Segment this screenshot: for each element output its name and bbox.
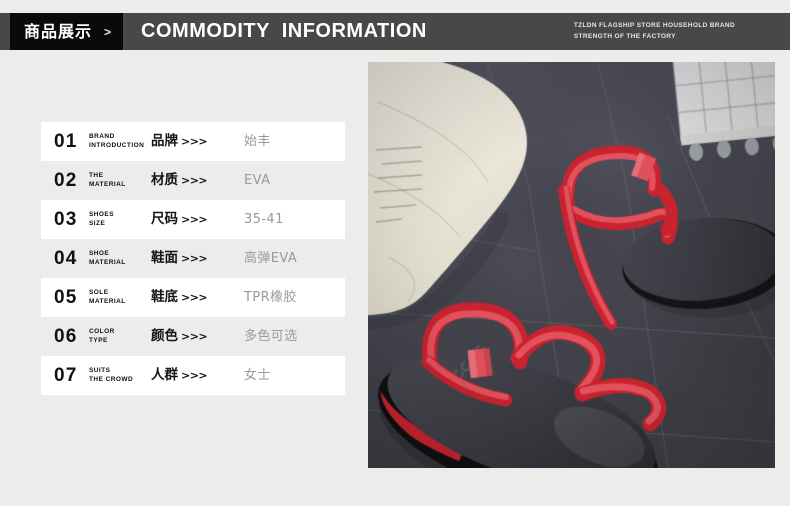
spec-chinese-text: 鞋面 [151, 250, 178, 266]
spec-english-label: SUITS THE CROWD [89, 367, 151, 385]
spec-chinese-label: 鞋底>>> [151, 291, 244, 305]
spec-chinese-text: 颜色 [151, 328, 178, 344]
spec-english-label: COLOR TYPE [89, 328, 151, 346]
spec-row: 07 SUITS THE CROWD 人群>>> 女士 [41, 356, 345, 395]
spec-chinese-label: 品牌>>> [151, 135, 244, 149]
spec-value: TPR橡胶 [244, 291, 345, 304]
specification-list: 01 BRAND INTRODUCTION 品牌>>> 始丰 02 THE MA… [41, 122, 345, 395]
spec-english-line1: SHOES [89, 211, 151, 220]
spec-english-label: SHOES SIZE [89, 211, 151, 229]
spec-english-line2: MATERIAL [89, 298, 151, 307]
arrows-icon: >>> [181, 369, 207, 382]
spec-index: 02 [54, 171, 89, 190]
spec-chinese-label: 人群>>> [151, 369, 244, 383]
spec-english-label: SHOE MATERIAL [89, 250, 151, 268]
spec-english-label: THE MATERIAL [89, 172, 151, 190]
spec-english-line2: THE CROWD [89, 376, 151, 385]
product-photo-canvas [368, 62, 775, 468]
brand-tagline: TZLDN FLAGSHIP STORE HOUSEHOLD BRAND STR… [574, 13, 735, 50]
spec-english-line1: COLOR [89, 328, 151, 337]
spec-chinese-text: 尺码 [151, 211, 178, 227]
spec-value: 多色可选 [244, 330, 345, 343]
spec-index: 04 [54, 249, 89, 268]
spec-row: 06 COLOR TYPE 颜色>>> 多色可选 [41, 317, 345, 356]
product-photo [368, 62, 775, 468]
spec-english-label: SOLE MATERIAL [89, 289, 151, 307]
spec-chinese-text: 材质 [151, 172, 178, 188]
spec-row: 04 SHOE MATERIAL 鞋面>>> 高弹EVA [41, 239, 345, 278]
arrows-icon: >>> [181, 330, 207, 343]
spec-index: 01 [54, 132, 89, 151]
brand-tagline-line2: STRENGTH OF THE FACTORY [574, 32, 735, 43]
breadcrumb-tab-label: 商品展示 [24, 24, 92, 40]
spec-chinese-label: 材质>>> [151, 174, 244, 188]
spec-row: 03 SHOES SIZE 尺码>>> 35-41 [41, 200, 345, 239]
spec-english-label: BRAND INTRODUCTION [89, 133, 151, 151]
spec-index: 05 [54, 288, 89, 307]
spec-chinese-label: 鞋面>>> [151, 252, 244, 266]
chevron-right-icon: > [104, 26, 111, 38]
spec-english-line1: BRAND [89, 133, 151, 142]
spec-value: 35-41 [244, 213, 345, 226]
arrows-icon: >>> [181, 135, 207, 148]
spec-row: 02 THE MATERIAL 材质>>> EVA [41, 161, 345, 200]
spec-english-line1: THE [89, 172, 151, 181]
spec-index: 06 [54, 327, 89, 346]
spec-index: 03 [54, 210, 89, 229]
spec-english-line2: INTRODUCTION [89, 142, 151, 151]
spec-english-line2: MATERIAL [89, 259, 151, 268]
spec-chinese-text: 品牌 [151, 133, 178, 149]
spec-chinese-text: 鞋底 [151, 289, 178, 305]
spec-value: 始丰 [244, 135, 345, 148]
spec-english-line1: SUITS [89, 367, 151, 376]
spec-value: 高弹EVA [244, 252, 345, 265]
spec-english-line2: MATERIAL [89, 181, 151, 190]
page-title: COMMODITY INFORMATION [141, 13, 427, 50]
arrows-icon: >>> [181, 291, 207, 304]
arrows-icon: >>> [181, 174, 207, 187]
spec-row: 05 SOLE MATERIAL 鞋底>>> TPR橡胶 [41, 278, 345, 317]
spec-chinese-text: 人群 [151, 367, 178, 383]
spec-chinese-label: 颜色>>> [151, 330, 244, 344]
spec-english-line1: SHOE [89, 250, 151, 259]
spec-value: 女士 [244, 369, 345, 382]
spec-row: 01 BRAND INTRODUCTION 品牌>>> 始丰 [41, 122, 345, 161]
spec-english-line2: SIZE [89, 220, 151, 229]
spec-english-line1: SOLE [89, 289, 151, 298]
spec-index: 07 [54, 366, 89, 385]
spec-english-line2: TYPE [89, 337, 151, 346]
spec-chinese-label: 尺码>>> [151, 213, 244, 227]
arrows-icon: >>> [181, 252, 207, 265]
spec-value: EVA [244, 174, 345, 187]
breadcrumb-tab[interactable]: 商品展示 > [10, 13, 123, 50]
brand-tagline-line1: TZLDN FLAGSHIP STORE HOUSEHOLD BRAND [574, 21, 735, 32]
arrows-icon: >>> [181, 213, 207, 226]
page-header: 商品展示 > COMMODITY INFORMATION TZLDN FLAGS… [0, 13, 790, 50]
